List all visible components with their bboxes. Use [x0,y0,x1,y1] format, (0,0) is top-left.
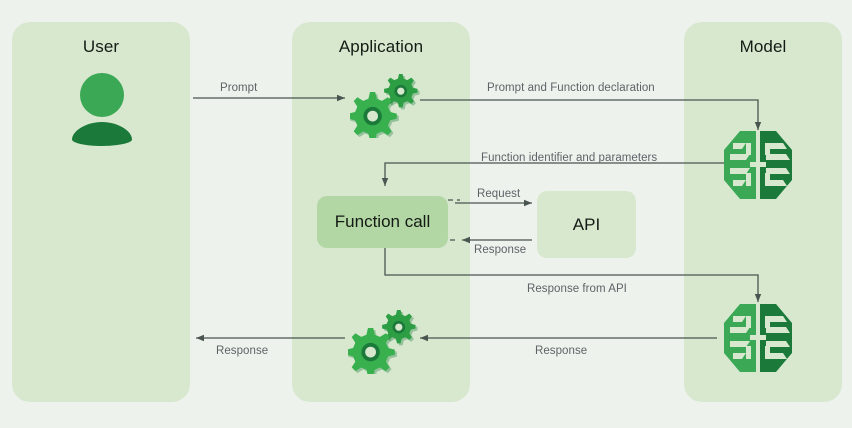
edge-label-prompt-and-function-declaration: Prompt and Function declaration [487,82,655,94]
edge-label-prompt: Prompt [220,82,257,94]
brain-icon-response [722,303,794,373]
node-api[interactable]: API [537,191,636,258]
node-function-call[interactable]: Function call [317,196,448,248]
brain-icon [722,130,794,200]
edge-label-response-from-api: Response from API [527,283,627,295]
wire-function-identifier-solid [385,163,727,186]
gears-icon-response [348,308,420,374]
wire-prompt-and-function-declaration [420,100,758,130]
user-avatar-icon [72,73,132,146]
edge-label-response-user: Response [216,345,268,357]
edge-label-response-api: Response [474,244,526,256]
edge-label-response-model: Response [535,345,587,357]
edge-label-function-identifier-and-parameters: Function identifier and parameters [481,152,657,164]
diagram-canvas: User Application Model [0,0,852,428]
gears-icon [350,72,422,138]
edge-label-request: Request [477,188,520,200]
